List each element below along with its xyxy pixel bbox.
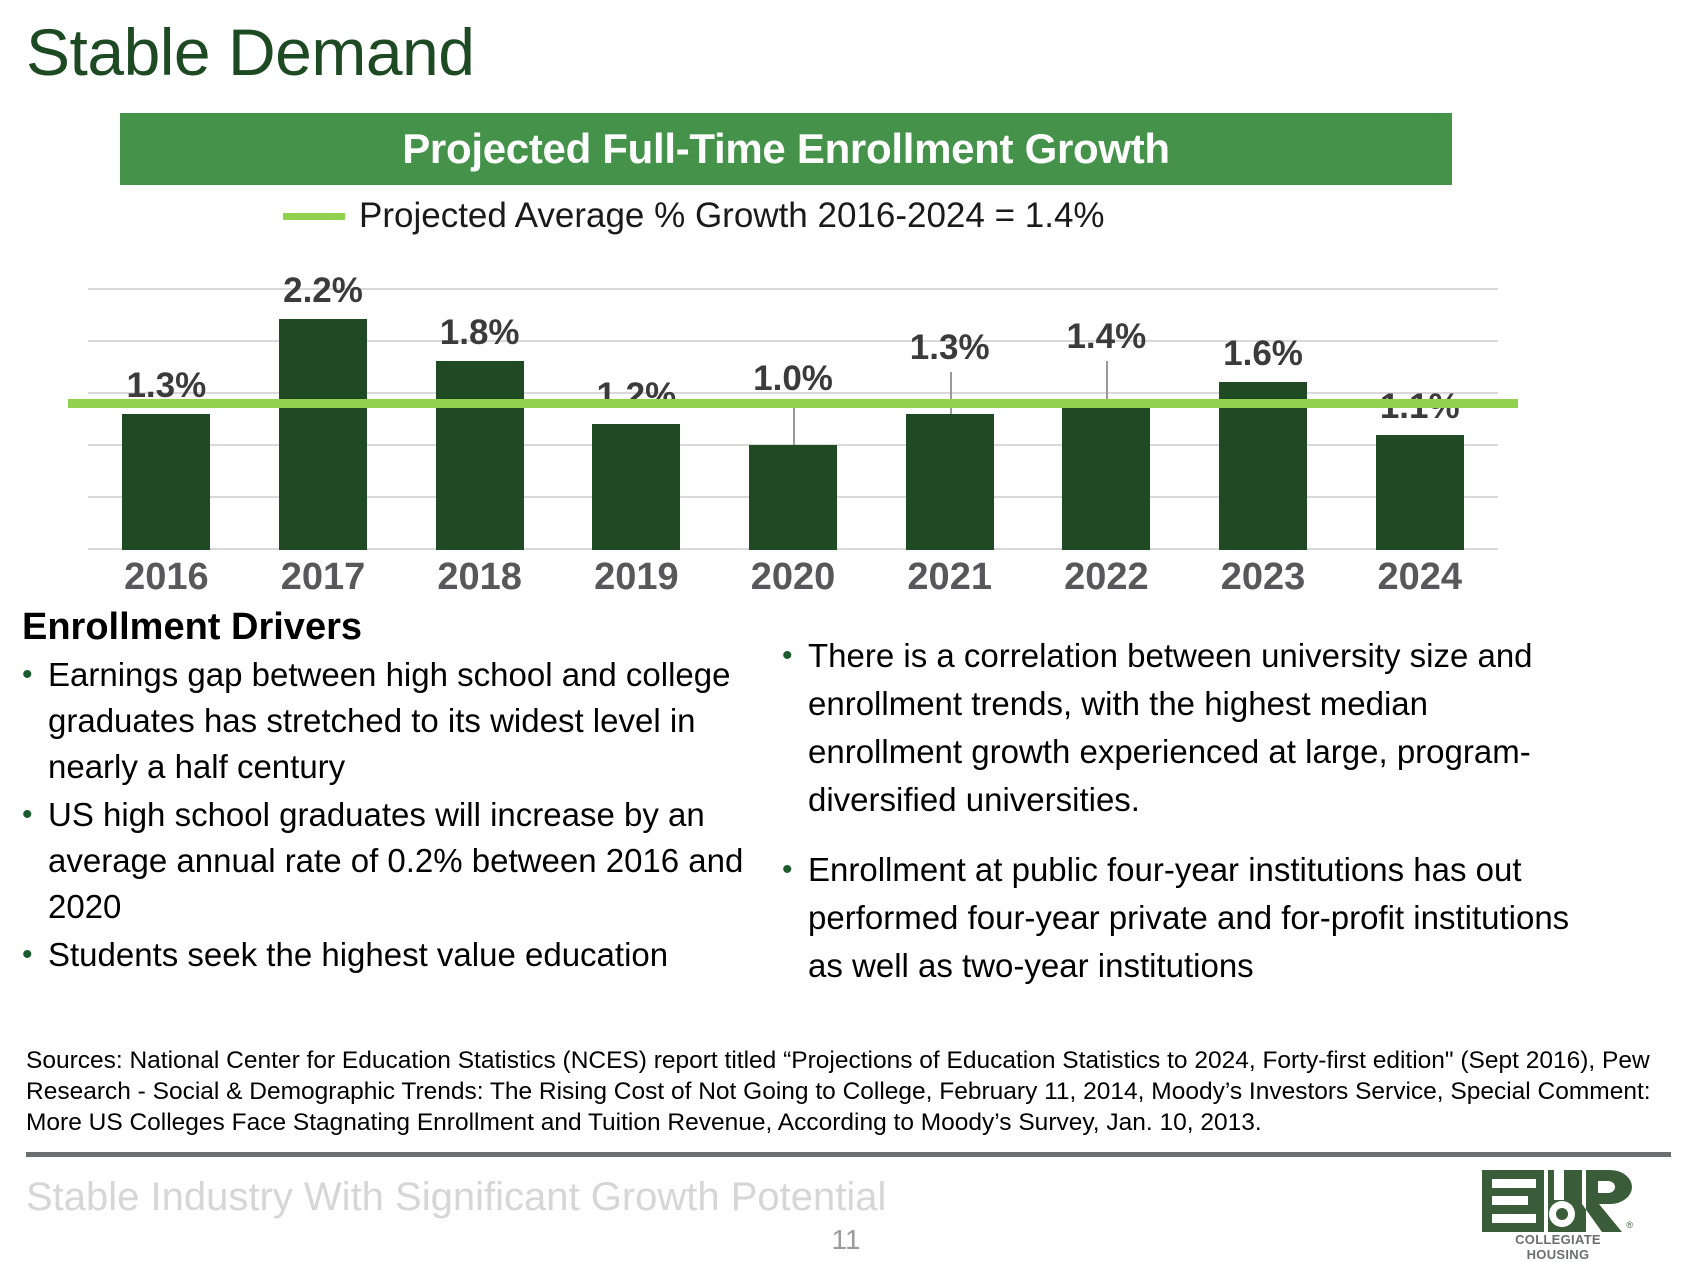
bar-group: 2.2% [245, 288, 402, 550]
bar [592, 424, 680, 550]
bar-group: 1.8% [401, 288, 558, 550]
bar-group: 1.1% [1341, 288, 1498, 550]
bullet-item: •Students seek the highest value educati… [22, 932, 792, 978]
bullet-item: •There is a correlation between universi… [782, 632, 1572, 824]
x-axis-tick-2020: 2020 [715, 556, 872, 599]
bullet-dot-icon: • [22, 932, 48, 978]
chart-legend: Projected Average % Growth 2016-2024 = 1… [283, 196, 1105, 236]
bullet-dot-icon: • [782, 846, 808, 894]
page-title: Stable Demand [26, 14, 474, 90]
bar [1062, 403, 1150, 550]
bullet-text: Enrollment at public four-year instituti… [808, 846, 1572, 990]
bar-group: 1.3% [871, 288, 1028, 550]
bar-chart: 1.3%2.2%1.8%1.2%1.0%1.3%1.4%1.6%1.1% [88, 288, 1498, 550]
page-number: 11 [0, 1224, 1692, 1256]
x-axis-tick-2022: 2022 [1028, 556, 1185, 599]
bar-value-label: 1.0% [753, 359, 833, 399]
legend-label: Projected Average % Growth 2016-2024 = 1… [359, 196, 1105, 236]
bullet-dot-icon: • [22, 792, 48, 838]
bar [436, 361, 524, 550]
x-axis-tick-2018: 2018 [401, 556, 558, 599]
bullet-text: US high school graduates will increase b… [48, 792, 792, 930]
x-axis-tick-2021: 2021 [871, 556, 1028, 599]
bar-value-label: 1.6% [1223, 334, 1303, 374]
label-leader-line [793, 403, 795, 445]
edr-logo-tagline: COLLEGIATE HOUSING [1484, 1232, 1632, 1262]
bar-value-label: 1.3% [910, 328, 990, 368]
x-axis-tick-labels: 201620172018201920202021202220232024 [88, 556, 1498, 599]
bar [279, 319, 367, 550]
bar-group: 1.6% [1185, 288, 1342, 550]
bar-series: 1.3%2.2%1.8%1.2%1.0%1.3%1.4%1.6%1.1% [88, 288, 1498, 550]
bar-group: 1.3% [88, 288, 245, 550]
bar [1376, 435, 1464, 550]
bullet-text: There is a correlation between universit… [808, 632, 1572, 824]
chart-banner-title: Projected Full-Time Enrollment Growth [402, 125, 1170, 173]
legend-line-swatch-icon [283, 213, 345, 220]
bullet-item: •Earnings gap between high school and co… [22, 652, 792, 790]
chart-banner: Projected Full-Time Enrollment Growth [120, 113, 1452, 185]
bullet-text: Students seek the highest value educatio… [48, 932, 668, 978]
bar-group: 1.2% [558, 288, 715, 550]
bar [749, 445, 837, 550]
registered-trademark-icon: ® [1626, 1220, 1633, 1230]
bar-value-label: 1.4% [1066, 317, 1146, 357]
bullet-item: •US high school graduates will increase … [22, 792, 792, 930]
drivers-heading: Enrollment Drivers [22, 606, 362, 649]
bar-group: 1.4% [1028, 288, 1185, 550]
bullet-item: •Enrollment at public four-year institut… [782, 846, 1572, 990]
x-axis-tick-2024: 2024 [1341, 556, 1498, 599]
bar-value-label: 2.2% [283, 271, 363, 311]
footer-divider [26, 1152, 1671, 1157]
bullet-dot-icon: • [22, 652, 48, 698]
x-axis-tick-2017: 2017 [245, 556, 402, 599]
bar-value-label: 1.2% [596, 376, 676, 416]
bar-group: 1.0% [715, 288, 872, 550]
bar-value-label: 1.8% [440, 313, 520, 353]
bar [122, 414, 210, 550]
bar [906, 414, 994, 550]
footer-tagline: Stable Industry With Significant Growth … [26, 1175, 886, 1220]
drivers-right-column: •There is a correlation between universi… [782, 632, 1572, 1012]
x-axis-tick-2016: 2016 [88, 556, 245, 599]
bullet-dot-icon: • [782, 632, 808, 680]
sources-note: Sources: National Center for Education S… [26, 1045, 1666, 1138]
drivers-left-column: •Earnings gap between high school and co… [22, 652, 792, 980]
edr-logo-mark-icon: ® [1482, 1170, 1632, 1232]
label-leader-line [1106, 361, 1108, 403]
edr-logo: ® COLLEGIATE HOUSING [1482, 1170, 1632, 1252]
x-axis-tick-2019: 2019 [558, 556, 715, 599]
bullet-text: Earnings gap between high school and col… [48, 652, 792, 790]
x-axis-tick-2023: 2023 [1185, 556, 1342, 599]
average-reference-line [68, 399, 1518, 408]
